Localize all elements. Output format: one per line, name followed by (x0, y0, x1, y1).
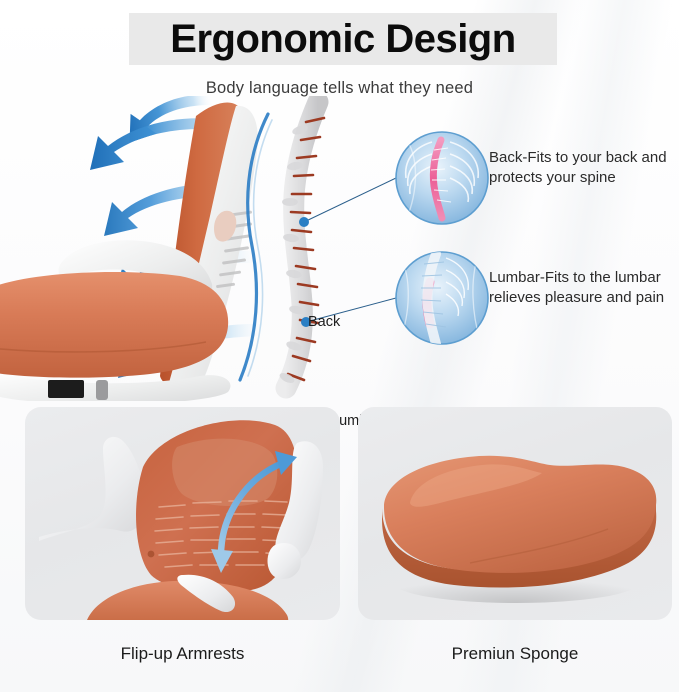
office-chair-side-view (0, 102, 258, 401)
chair-gas-cylinder (96, 380, 108, 400)
panel-premium-sponge (358, 407, 672, 620)
callout-text-back: Back-Fits to your back and protects your… (489, 148, 679, 188)
back-adjust-knob (148, 551, 155, 558)
armrest-right-hinge (268, 543, 302, 579)
top-illustration-scene: Back Lumbar (0, 96, 679, 401)
spine-label-back: Back (308, 314, 340, 330)
sponge-panel-svg (358, 407, 672, 620)
infographic-root: Ergonomic Design Body language tells wha… (0, 0, 679, 692)
armrest-left-lowered (39, 437, 145, 541)
callout-circle-lumbar (396, 252, 488, 344)
callout-circle-back (396, 132, 488, 224)
connector-back-line (304, 178, 396, 222)
title-banner: Ergonomic Design (129, 13, 557, 65)
panel-caption-sponge: Premiun Sponge (358, 644, 672, 664)
callout-text-lumbar: Lumbar-Fits to the lumbar relieves pleas… (489, 268, 679, 308)
anatomical-spine-illustration (278, 102, 324, 388)
armrest-panel-svg (25, 407, 340, 620)
callout-connectors (304, 178, 396, 322)
panel-flip-up-armrests (25, 407, 340, 620)
chair-seat-cushion (0, 272, 228, 378)
marker-dot-back (299, 217, 309, 227)
panel-caption-armrests: Flip-up Armrests (25, 644, 340, 664)
page-title: Ergonomic Design (170, 19, 515, 59)
chair-mechanism-block (48, 380, 84, 398)
top-scene-svg (0, 96, 679, 401)
